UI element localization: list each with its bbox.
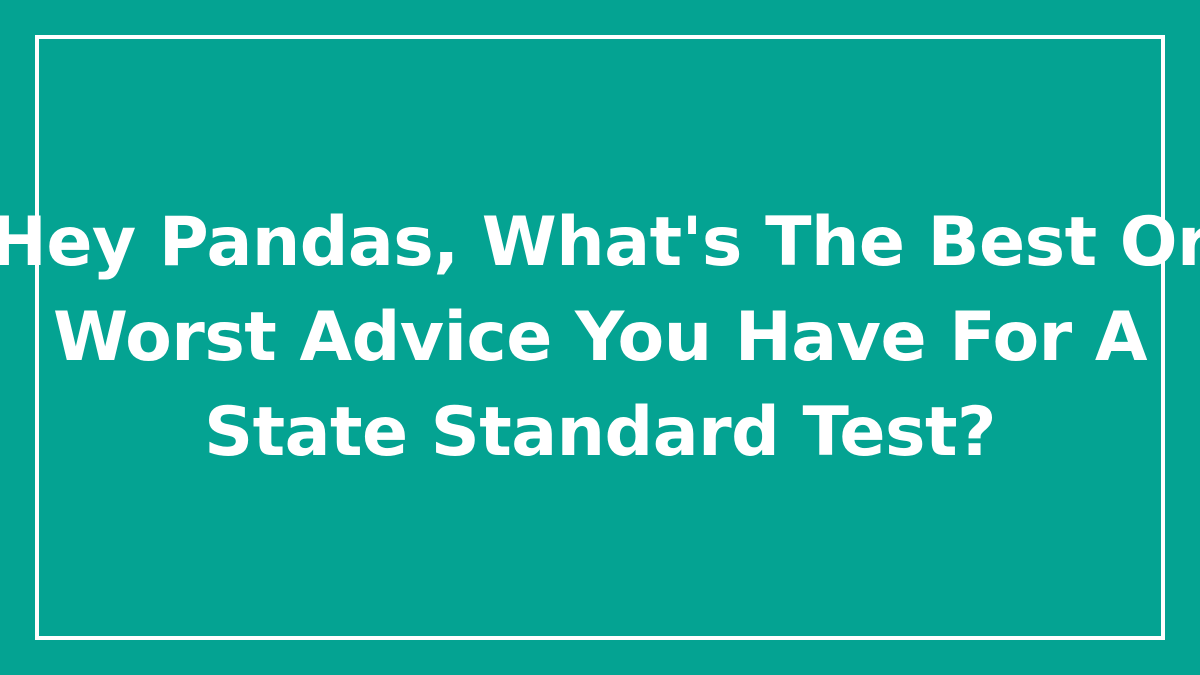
title-line-3: State Standard Test? [0, 385, 1200, 480]
title-block: Hey Pandas, What's The Best Or Worst Adv… [60, 0, 1140, 675]
social-title-card: Hey Pandas, What's The Best Or Worst Adv… [0, 0, 1200, 675]
title-line-1: Hey Pandas, What's The Best Or [0, 195, 1200, 290]
page-title: Hey Pandas, What's The Best Or Worst Adv… [0, 195, 1200, 480]
title-line-2: Worst Advice You Have For A [0, 290, 1200, 385]
